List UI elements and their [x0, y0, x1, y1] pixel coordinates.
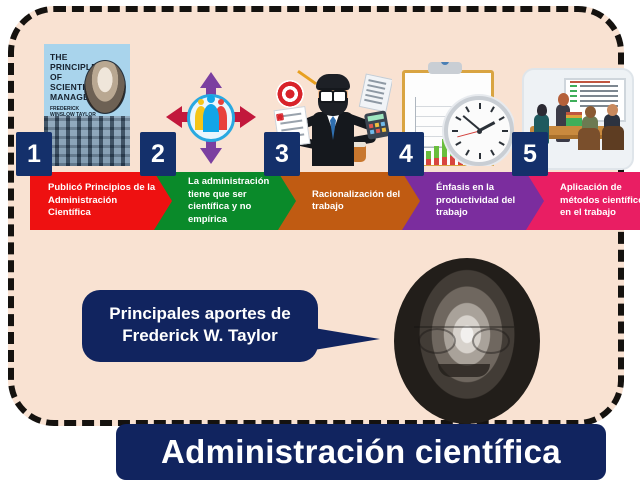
infographic-poster: THE PRINCIPLES OF SCIENTIFIC MANAGEMENT …: [8, 6, 624, 426]
book-factory-photo: [44, 116, 130, 166]
book-cover-image: THE PRINCIPLES OF SCIENTIFIC MANAGEMENT …: [44, 44, 130, 166]
step-arrow-2[interactable]: La administración tiene que ser científi…: [154, 172, 306, 230]
step-label-1: Publicó Principios de la Administración …: [30, 182, 180, 220]
step-arrow-3[interactable]: Racionalización del trabajo: [278, 172, 430, 230]
chair: [578, 128, 600, 150]
callout-line-2: Frederick W. Taylor: [122, 326, 278, 345]
page-title: Administración científica: [116, 424, 606, 480]
callout-line-1: Principales aportes de: [109, 304, 290, 323]
dart-icon: [297, 70, 317, 85]
step-badge-1[interactable]: 1: [16, 132, 52, 176]
chart-bar: [426, 154, 431, 165]
eyeglasses-icon: [414, 326, 514, 352]
clipboard-clamp: [428, 62, 462, 74]
books-stack: [566, 118, 582, 126]
chart-bar: [434, 149, 439, 165]
target-icon: [276, 80, 304, 108]
callout-box: Principales aportes de Frederick W. Tayl…: [82, 290, 318, 362]
step-label-2: La administración tiene que ser científi…: [154, 176, 306, 226]
glasses-icon: [319, 88, 347, 99]
calculator-icon: [364, 110, 390, 139]
chair: [602, 126, 624, 150]
person-blue-icon: [203, 104, 219, 132]
taylor-portrait: [394, 258, 540, 424]
chart-bar: [442, 143, 447, 165]
arrow-right-icon: [240, 106, 256, 128]
step-badge-5[interactable]: 5: [512, 132, 548, 176]
callout-tail: [314, 328, 380, 350]
step-label-3: Racionalización del trabajo: [278, 189, 430, 214]
step-arrow-1[interactable]: Publicó Principios de la Administración …: [30, 172, 180, 230]
step-badge-4[interactable]: 4: [388, 132, 424, 176]
clock-icon: [444, 96, 514, 166]
step-arrow-4[interactable]: Énfasis en la productividad del trabajo: [402, 172, 554, 230]
people-group-arrows-icon: [164, 70, 258, 166]
step-badge-2[interactable]: 2: [140, 132, 176, 176]
arrow-up-icon: [200, 72, 222, 88]
document-icon: [359, 73, 392, 112]
title-bar: Administración científica: [116, 424, 606, 480]
step-label-4: Énfasis en la productividad del trabajo: [402, 182, 554, 220]
mustache: [438, 364, 490, 377]
step-badge-3[interactable]: 3: [264, 132, 300, 176]
arrow-left-icon: [166, 106, 182, 128]
arrow-down-icon: [200, 148, 222, 164]
